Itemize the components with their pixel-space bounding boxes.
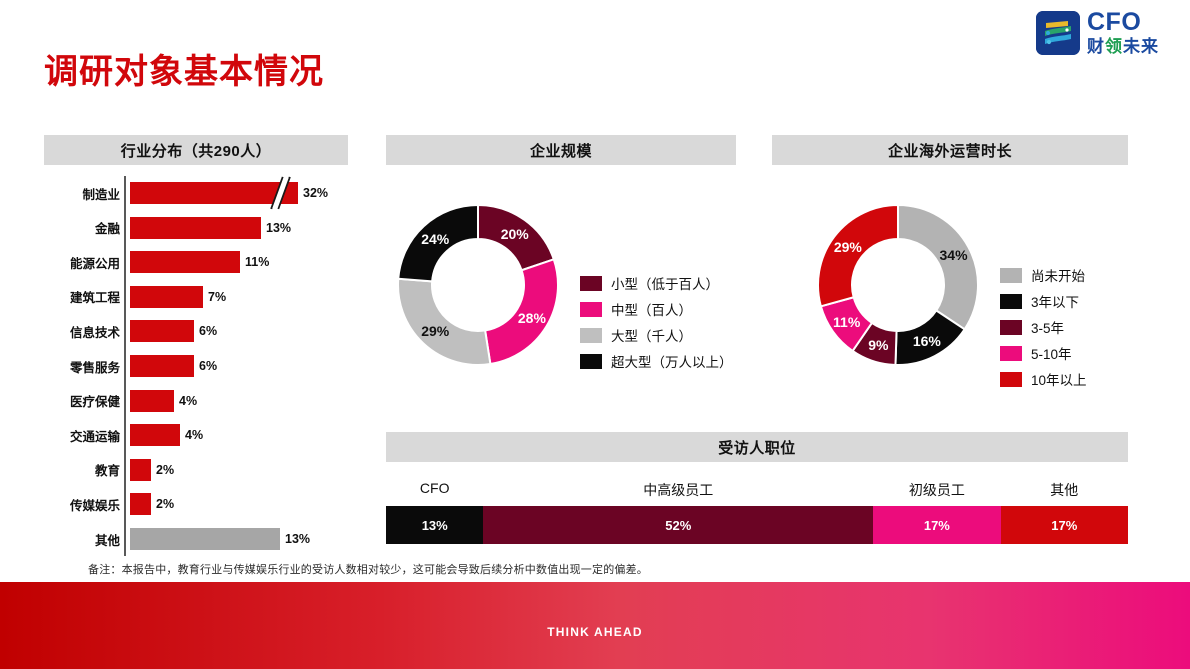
legend-swatch bbox=[1000, 294, 1022, 309]
position-stacked-bar: 13%52%17%17% bbox=[386, 506, 1128, 544]
donut-value-label: 29% bbox=[834, 239, 862, 255]
legend-item: 大型（千人） bbox=[580, 322, 733, 348]
bar-row: 传媒娱乐2% bbox=[44, 487, 374, 521]
bar-segment bbox=[130, 493, 151, 515]
footer-tagline: THINK AHEAD bbox=[0, 625, 1190, 639]
bar-value-label: 32% bbox=[303, 186, 328, 200]
bar-value-label: 7% bbox=[208, 290, 226, 304]
brand-cn-1: 财 bbox=[1087, 37, 1105, 56]
bar-category-label: 其他 bbox=[44, 530, 124, 549]
legend-label: 大型（千人） bbox=[611, 325, 692, 345]
bar-value-label: 13% bbox=[285, 532, 310, 546]
legend-item: 小型（低于百人） bbox=[580, 270, 733, 296]
position-category-label: CFO bbox=[420, 480, 450, 496]
bar-row: 交通运输4% bbox=[44, 418, 374, 452]
overseas-duration-legend: 尚未开始3年以下3-5年5-10年10年以上 bbox=[1000, 262, 1087, 392]
bar-category-label: 建筑工程 bbox=[44, 287, 124, 306]
bar-wrap: 32% bbox=[130, 182, 328, 204]
legend-swatch bbox=[580, 276, 602, 291]
legend-label: 小型（低于百人） bbox=[611, 273, 719, 293]
bar-segment bbox=[130, 355, 194, 377]
legend-label: 3-5年 bbox=[1031, 317, 1064, 337]
position-bar-segment: 17% bbox=[873, 506, 1000, 544]
donut-slice bbox=[818, 205, 898, 306]
brand-wordmark: CFO 财领未来 bbox=[1087, 10, 1159, 55]
axis-break-icon bbox=[272, 176, 292, 210]
donut-value-label: 11% bbox=[833, 314, 860, 330]
legend-item: 3-5年 bbox=[1000, 314, 1087, 340]
overseas-duration-donut: 34%16%9%11%29% bbox=[818, 205, 978, 365]
bar-wrap: 4% bbox=[130, 424, 203, 446]
bar-segment bbox=[130, 251, 240, 273]
position-bar-segment: 52% bbox=[483, 506, 873, 544]
bar-wrap: 7% bbox=[130, 286, 226, 308]
bar-segment bbox=[130, 286, 203, 308]
position-bar-segment: 13% bbox=[386, 506, 483, 544]
bar-segment bbox=[130, 182, 298, 204]
bar-row: 金融13% bbox=[44, 211, 374, 245]
cfo-wave-logo-icon bbox=[1036, 11, 1080, 55]
bar-wrap: 2% bbox=[130, 493, 174, 515]
position-category-label: 中高级员工 bbox=[643, 480, 713, 500]
legend-swatch bbox=[580, 328, 602, 343]
bar-category-label: 能源公用 bbox=[44, 253, 124, 272]
brand-cn-2: 领 bbox=[1105, 37, 1123, 56]
bar-segment bbox=[130, 320, 194, 342]
position-bar-segment: 17% bbox=[1001, 506, 1128, 544]
brand-chinese-text: 财领未来 bbox=[1087, 38, 1159, 55]
respondent-position-chart: CFO中高级员工初级员工其他 13%52%17%17% bbox=[386, 480, 1128, 544]
bar-wrap: 13% bbox=[130, 217, 291, 239]
donut-value-label: 28% bbox=[518, 310, 546, 326]
bar-wrap: 13% bbox=[130, 528, 310, 550]
position-panel-header: 受访人职位 bbox=[386, 432, 1128, 462]
bar-value-label: 2% bbox=[156, 463, 174, 477]
legend-label: 10年以上 bbox=[1031, 369, 1087, 389]
bar-value-label: 6% bbox=[199, 324, 217, 338]
legend-label: 3年以下 bbox=[1031, 291, 1079, 311]
legend-item: 10年以上 bbox=[1000, 366, 1087, 392]
position-category-label: 初级员工 bbox=[909, 480, 965, 500]
bar-row: 信息技术6% bbox=[44, 314, 374, 348]
bar-category-label: 传媒娱乐 bbox=[44, 495, 124, 514]
legend-swatch bbox=[1000, 346, 1022, 361]
bar-category-label: 零售服务 bbox=[44, 357, 124, 376]
bar-segment bbox=[130, 390, 174, 412]
bar-wrap: 4% bbox=[130, 390, 197, 412]
bar-row: 其他13% bbox=[44, 522, 374, 556]
bar-row: 教育2% bbox=[44, 453, 374, 487]
bar-value-label: 2% bbox=[156, 497, 174, 511]
legend-label: 中型（百人） bbox=[611, 299, 692, 319]
legend-item: 中型（百人） bbox=[580, 296, 733, 322]
bar-segment bbox=[130, 459, 151, 481]
legend-swatch bbox=[580, 302, 602, 317]
legend-label: 超大型（万人以上） bbox=[611, 351, 733, 371]
bar-value-label: 4% bbox=[179, 394, 197, 408]
legend-label: 5-10年 bbox=[1031, 343, 1072, 363]
enterprise-scale-legend: 小型（低于百人）中型（百人）大型（千人）超大型（万人以上） bbox=[580, 270, 733, 374]
donut-value-label: 9% bbox=[868, 337, 888, 353]
legend-item: 3年以下 bbox=[1000, 288, 1087, 314]
bar-value-label: 4% bbox=[185, 428, 203, 442]
enterprise-scale-donut: 20%28%29%24% bbox=[398, 205, 558, 365]
bar-row: 能源公用11% bbox=[44, 245, 374, 279]
bar-row: 医疗保健4% bbox=[44, 384, 374, 418]
bar-value-label: 6% bbox=[199, 359, 217, 373]
legend-item: 超大型（万人以上） bbox=[580, 348, 733, 374]
bar-wrap: 6% bbox=[130, 355, 217, 377]
bar-segment bbox=[130, 217, 261, 239]
legend-swatch bbox=[1000, 372, 1022, 387]
legend-item: 尚未开始 bbox=[1000, 262, 1087, 288]
bar-category-label: 教育 bbox=[44, 460, 124, 479]
bar-wrap: 11% bbox=[130, 251, 269, 273]
legend-swatch bbox=[1000, 268, 1022, 283]
footnote-text: 备注：本报告中，教育行业与传媒娱乐行业的受访人数相对较少，这可能会导致后续分析中… bbox=[88, 561, 648, 577]
legend-label: 尚未开始 bbox=[1031, 265, 1085, 285]
legend-swatch bbox=[1000, 320, 1022, 335]
page-title: 调研对象基本情况 bbox=[44, 44, 324, 93]
donut-value-label: 29% bbox=[421, 323, 449, 339]
bar-value-label: 11% bbox=[245, 255, 269, 269]
donut-value-label: 20% bbox=[501, 226, 529, 242]
legend-item: 5-10年 bbox=[1000, 340, 1087, 366]
overseas-panel-header: 企业海外运营时长 bbox=[772, 135, 1128, 165]
scale-panel-header: 企业规模 bbox=[386, 135, 736, 165]
bar-segment bbox=[130, 528, 280, 550]
bar-category-label: 信息技术 bbox=[44, 322, 124, 341]
bar-segment bbox=[130, 424, 180, 446]
industry-bar-chart: 制造业32%金融13%能源公用11%建筑工程7%信息技术6%零售服务6%医疗保健… bbox=[44, 176, 374, 556]
donut-slice bbox=[398, 279, 490, 365]
bar-category-label: 制造业 bbox=[44, 184, 124, 203]
bar-category-label: 金融 bbox=[44, 218, 124, 237]
donut-value-label: 34% bbox=[940, 247, 968, 263]
brand-cn-3: 未来 bbox=[1123, 37, 1159, 56]
slide-footer: THINK AHEAD bbox=[0, 582, 1190, 669]
bar-value-label: 13% bbox=[266, 221, 291, 235]
bar-row: 零售服务6% bbox=[44, 349, 374, 383]
slide-root: CFO 财领未来 调研对象基本情况 行业分布（共290人） 企业规模 企业海外运… bbox=[0, 0, 1190, 669]
bar-category-label: 交通运输 bbox=[44, 426, 124, 445]
bar-wrap: 2% bbox=[130, 459, 174, 481]
cfo-brand-logo: CFO 财领未来 bbox=[1036, 10, 1159, 55]
position-category-label: 其他 bbox=[1050, 480, 1078, 500]
legend-swatch bbox=[580, 354, 602, 369]
donut-value-label: 16% bbox=[913, 333, 941, 349]
industry-panel-header: 行业分布（共290人） bbox=[44, 135, 348, 165]
bar-row: 建筑工程7% bbox=[44, 280, 374, 314]
bar-category-label: 医疗保健 bbox=[44, 391, 124, 410]
donut-value-label: 24% bbox=[421, 231, 449, 247]
position-category-labels: CFO中高级员工初级员工其他 bbox=[386, 480, 1128, 506]
bar-wrap: 6% bbox=[130, 320, 217, 342]
bar-row: 制造业32% bbox=[44, 176, 374, 210]
brand-cfo-text: CFO bbox=[1087, 10, 1159, 35]
